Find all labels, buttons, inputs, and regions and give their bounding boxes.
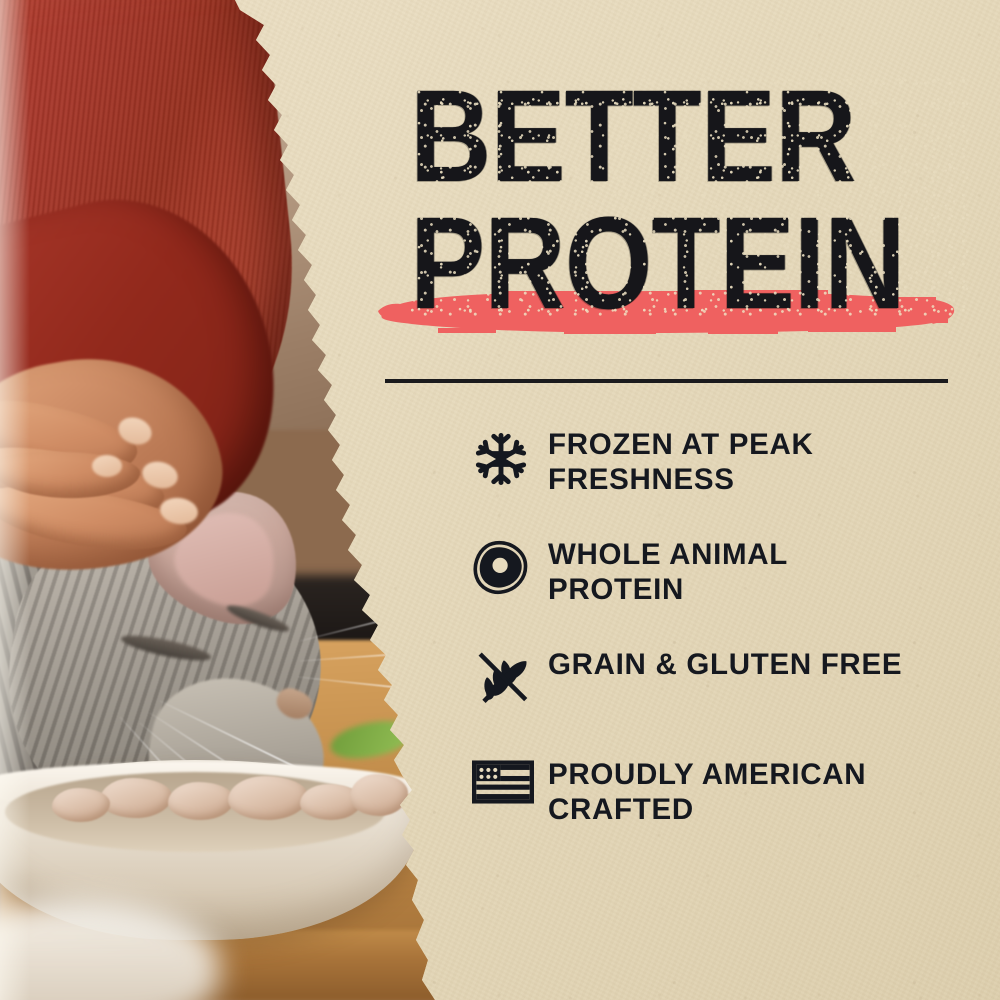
poster-content: BETTER PROTEIN xyxy=(0,0,1000,1000)
poster-canvas: BETTER PROTEIN xyxy=(0,0,1000,1000)
feature-item-whole-animal-protein: WHOLE ANIMAL PROTEIN xyxy=(472,536,942,608)
feature-item-american-crafted: PROUDLY AMERICAN CRAFTED xyxy=(472,756,942,828)
feature-label: PROUDLY AMERICAN CRAFTED xyxy=(548,756,928,827)
feature-item-frozen: FROZEN AT PEAK FRESHNESS xyxy=(472,426,942,498)
feature-item-grain-gluten-free: GRAIN & GLUTEN FREE xyxy=(472,646,942,718)
headline-line-1: BETTER xyxy=(410,76,892,197)
meat-cut-icon xyxy=(472,536,548,598)
wheat-crossed-out-icon xyxy=(472,646,548,710)
section-divider-rule xyxy=(385,379,948,383)
usa-flag-icon xyxy=(472,756,548,804)
feature-label: WHOLE ANIMAL PROTEIN xyxy=(548,536,928,607)
headline-block: BETTER PROTEIN xyxy=(410,76,970,323)
headline-line-2: PROTEIN xyxy=(410,203,892,324)
snowflake-icon xyxy=(472,426,548,488)
feature-label: FROZEN AT PEAK FRESHNESS xyxy=(548,426,928,497)
feature-list: FROZEN AT PEAK FRESHNESS WHOLE ANIMAL PR… xyxy=(472,426,942,866)
feature-label: GRAIN & GLUTEN FREE xyxy=(548,646,902,683)
